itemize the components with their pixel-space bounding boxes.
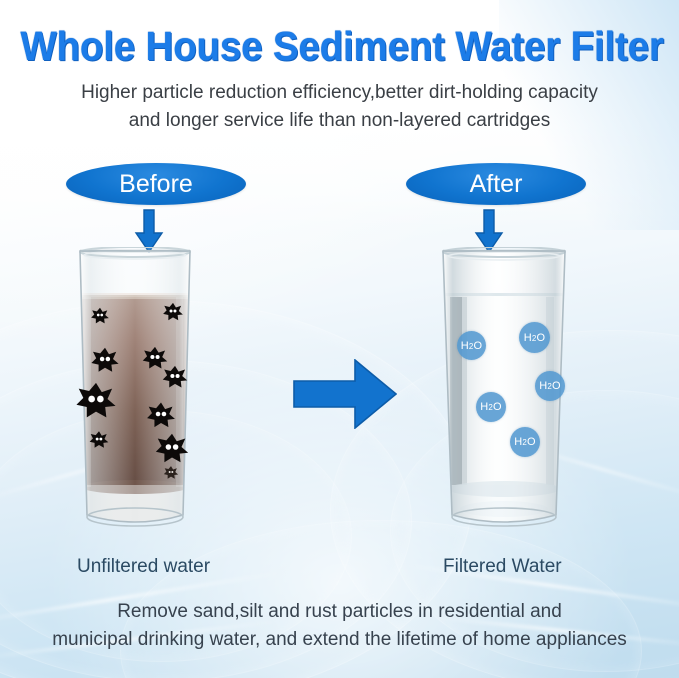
after-caption: Filtered Water	[443, 556, 562, 578]
h2o-bubble-label: H2O	[514, 436, 536, 448]
h2o-bubble-label: H2O	[461, 340, 483, 352]
page-title: Whole House Sediment Water Filter	[20, 22, 658, 70]
footer-line-2: municipal drinking water, and extend the…	[0, 626, 679, 653]
footer-line-1: Remove sand,silt and rust particles in r…	[0, 598, 679, 625]
subtitle-line-1: Higher particle reduction efficiency,bet…	[0, 80, 679, 106]
h2o-bubble-label: H2O	[524, 332, 546, 344]
after-badge: After	[406, 163, 586, 205]
h2o-bubble-label: H2O	[539, 380, 561, 392]
h2o-bubble: H2O	[510, 427, 540, 457]
subtitle-line-2: and longer service life than non-layered…	[0, 108, 679, 134]
before-badge: Before	[66, 163, 246, 205]
h2o-bubble: H2O	[519, 322, 550, 353]
right-arrow-icon	[293, 359, 397, 429]
water-glass-dirty-icon	[72, 247, 198, 539]
after-badge-label: After	[470, 170, 523, 199]
h2o-bubble: H2O	[535, 371, 565, 401]
h2o-bubble: H2O	[476, 392, 506, 422]
h2o-bubble-label: H2O	[480, 401, 502, 413]
product-infographic-poster: Whole House Sediment Water Filter Higher…	[0, 0, 679, 678]
before-badge-label: Before	[119, 170, 193, 199]
before-caption: Unfiltered water	[77, 556, 210, 578]
h2o-bubble: H2O	[457, 331, 486, 360]
